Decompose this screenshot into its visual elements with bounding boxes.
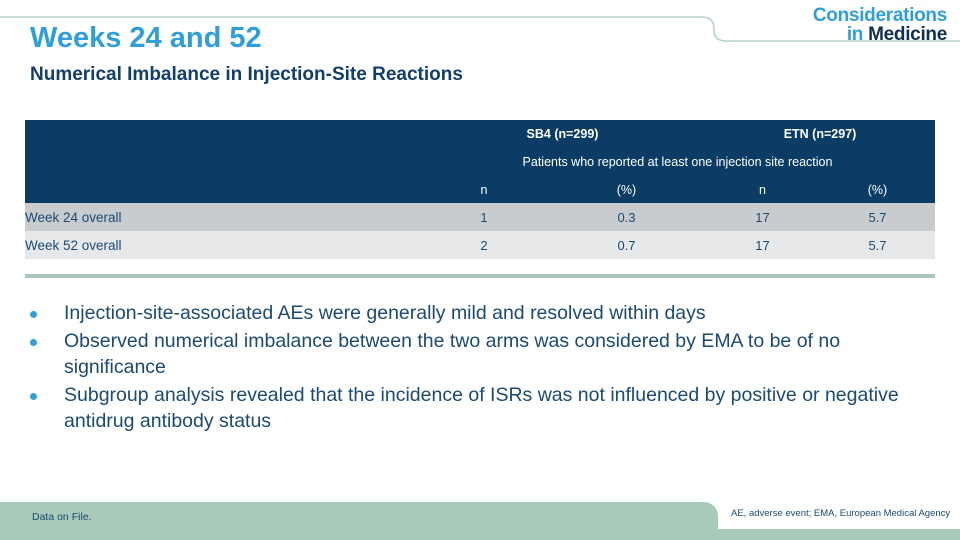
subheader-sb4-n: n	[420, 176, 548, 203]
bullet-list: Injection-site-associated AEs were gener…	[30, 300, 930, 436]
row-week52-sb4-n: 2	[420, 231, 548, 259]
row-week24-sb4-n: 1	[420, 203, 548, 231]
logo-word-medicine: Medicine	[868, 24, 947, 45]
bullet-text-1: Injection-site-associated AEs were gener…	[64, 300, 930, 326]
bullet-text-3: Subgroup analysis revealed that the inci…	[64, 382, 930, 434]
row-week24-sb4-pct: 0.3	[548, 203, 705, 231]
bullet-text-2: Observed numerical imbalance between the…	[64, 328, 930, 380]
footer-abbreviations: AE, adverse event; EMA, European Medical…	[731, 508, 950, 519]
table-bottom-accent-rule	[25, 274, 935, 278]
list-item: Injection-site-associated AEs were gener…	[30, 300, 930, 326]
injection-site-reaction-table: SB4 (n=299) ETN (n=297) Patients who rep…	[25, 120, 935, 259]
subheader-etn-pct: (%)	[820, 176, 935, 203]
page-title: Weeks 24 and 52	[30, 22, 262, 55]
footer-bar	[0, 502, 718, 540]
row-label-week-52: Week 52 overall	[25, 231, 420, 259]
column-group-etn: ETN (n=297)	[705, 120, 935, 148]
row-label-week-24: Week 24 overall	[25, 203, 420, 231]
row-week52-etn-pct: 5.7	[820, 231, 935, 259]
logo-line-in-medicine: in Medicine	[813, 25, 947, 44]
row-week52-sb4-pct: 0.7	[548, 231, 705, 259]
list-item: Subgroup analysis revealed that the inci…	[30, 382, 930, 434]
bullet-dot-icon	[30, 393, 37, 400]
page-subtitle: Numerical Imbalance in Injection-Site Re…	[30, 64, 463, 86]
logo-line-considerations: Considerations	[813, 6, 947, 25]
subheader-sb4-pct: (%)	[548, 176, 705, 203]
row-week24-etn-pct: 5.7	[820, 203, 935, 231]
list-item: Observed numerical imbalance between the…	[30, 328, 930, 380]
column-group-sb4: SB4 (n=299)	[420, 120, 705, 148]
table-header-row-groups: SB4 (n=299) ETN (n=297)	[25, 120, 935, 148]
logo-word-in: in	[847, 24, 868, 45]
footer-source-note: Data on File.	[32, 511, 92, 523]
row-week52-etn-n: 17	[705, 231, 820, 259]
bullet-dot-icon	[30, 339, 37, 346]
bullet-dot-icon	[30, 311, 37, 318]
slide-canvas: Weeks 24 and 52 Numerical Imbalance in I…	[0, 0, 960, 540]
column-span-description: Patients who reported at least one injec…	[420, 148, 935, 176]
brand-logo: Considerations in Medicine	[813, 6, 947, 45]
subheader-etn-n: n	[705, 176, 820, 203]
row-week24-etn-n: 17	[705, 203, 820, 231]
table-row: Week 52 overall 2 0.7 17 5.7	[25, 231, 935, 259]
table-row: Week 24 overall 1 0.3 17 5.7	[25, 203, 935, 231]
table-corner-cell	[25, 120, 420, 203]
